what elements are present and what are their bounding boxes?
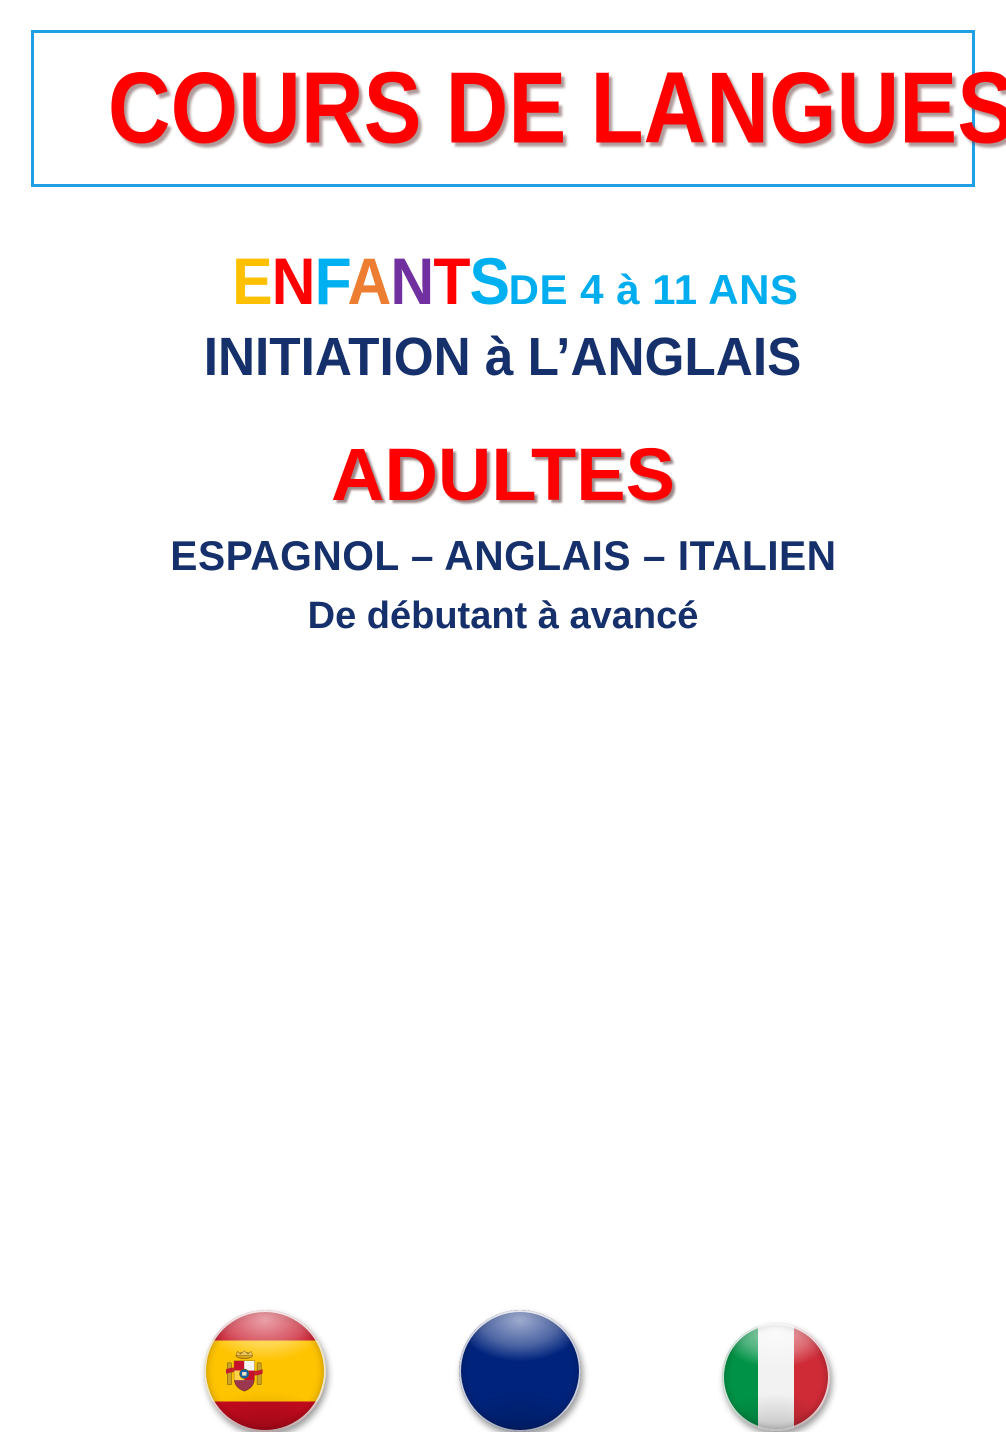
page-title-text: COURS DE LANGUES — [108, 57, 1006, 160]
letter-t: T — [433, 244, 469, 318]
children-age-range: DE 4 à 11 ANS — [509, 266, 799, 313]
adults-languages-line: ESPAGNOL – ANGLAIS – ITALIEN — [0, 535, 1006, 577]
letter-n-1: N — [271, 244, 314, 318]
italy-flag-surface — [722, 1323, 830, 1431]
adults-heading-line: ADULTES — [0, 438, 1006, 512]
spain-flag-surface — [204, 1310, 326, 1432]
italy-flag-bands — [722, 1323, 830, 1431]
uk-flag-field — [459, 1310, 581, 1432]
letter-e-1: E — [232, 244, 272, 318]
letter-f: F — [314, 244, 347, 318]
title-box: COURS DE LANGUES — [31, 30, 975, 187]
spain-coat-of-arms-icon — [226, 1350, 263, 1394]
adults-heading: ADULTES — [331, 438, 675, 512]
uk-flag-surface — [459, 1310, 581, 1432]
children-subtitle-line: INITIATION à L’ANGLAIS — [0, 330, 1006, 384]
children-heading-line: ENFANTSDE 4 à 11 ANS — [0, 248, 1006, 314]
children-subtitle: INITIATION à L’ANGLAIS — [204, 330, 802, 384]
spain-flag-icon — [204, 1310, 326, 1432]
letter-n-2: N — [390, 244, 433, 318]
language-courses-poster: COURS DE LANGUES ENFANTSDE 4 à 11 ANS IN… — [0, 0, 1006, 788]
letter-a: A — [347, 244, 390, 318]
page-title: COURS DE LANGUES — [34, 57, 972, 160]
flags-row — [0, 655, 1006, 788]
adults-languages: ESPAGNOL – ANGLAIS – ITALIEN — [170, 535, 836, 577]
adults-levels-line: De débutant à avancé — [0, 597, 1006, 635]
letter-s: S — [469, 244, 509, 318]
adults-levels: De débutant à avancé — [308, 597, 699, 635]
united-kingdom-flag-icon — [459, 1310, 581, 1432]
italy-flag-icon — [722, 1323, 830, 1431]
spain-flag-bands — [204, 1310, 326, 1432]
children-heading-word: ENFANTS — [232, 248, 509, 314]
